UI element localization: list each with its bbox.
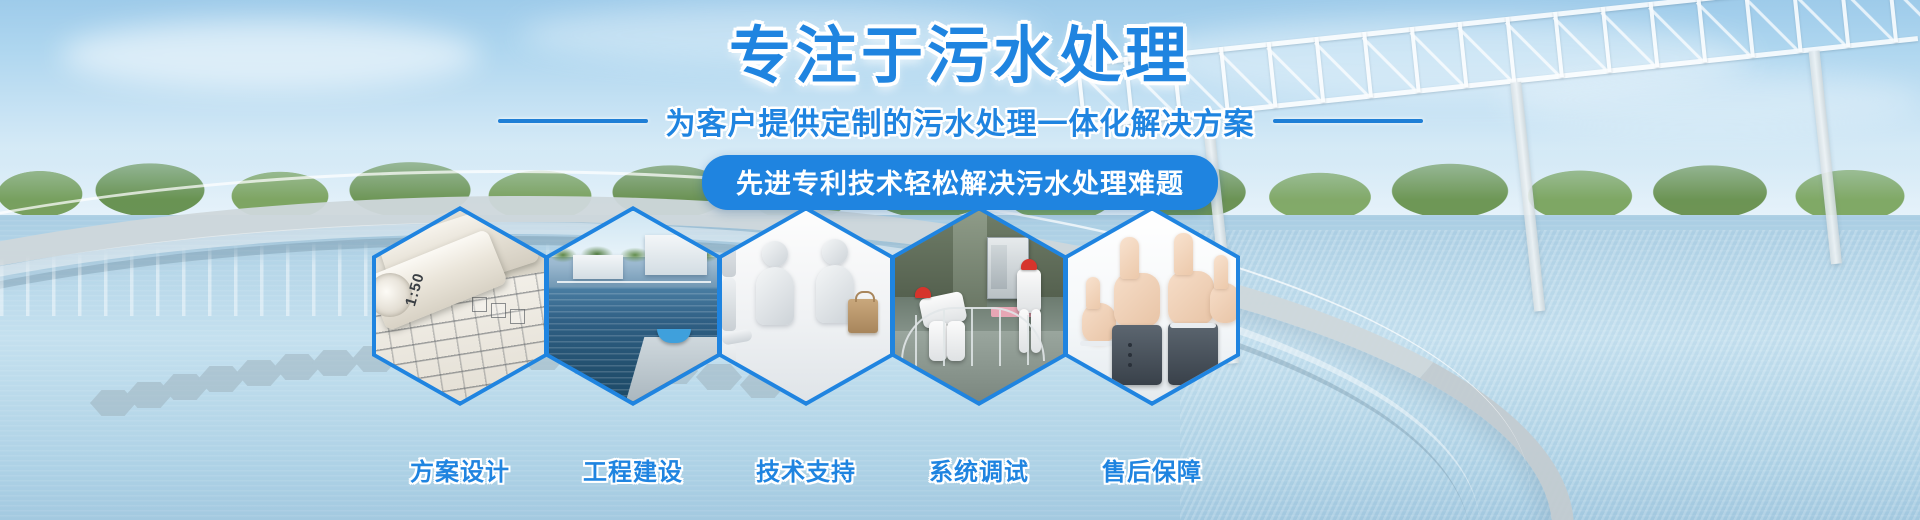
railing-post — [971, 308, 973, 366]
hexagon-frame — [891, 206, 1067, 406]
headline-block: 专注于污水处理 为客户提供定制的污水处理一体化解决方案 先进专利技术轻松解决污水… — [0, 0, 1920, 210]
feature-item-commissioning[interactable]: 系统调试 — [891, 206, 1067, 487]
shirt-cuff — [1170, 323, 1216, 328]
decorative-line-right — [1273, 119, 1423, 123]
blueprint-box — [472, 297, 487, 312]
commissioning-workers-icon — [895, 211, 1063, 402]
blueprint-box — [510, 309, 525, 324]
thumb-fist — [1082, 303, 1116, 343]
thumb-fist — [1210, 283, 1236, 323]
railing-post — [915, 315, 917, 367]
hexagon-image-clip — [895, 211, 1063, 402]
hexagon-image-clip — [1068, 211, 1236, 402]
hero-banner: 专注于污水处理 为客户提供定制的污水处理一体化解决方案 先进专利技术轻松解决污水… — [0, 0, 1920, 520]
figure-head-left — [762, 241, 788, 267]
figure-leg-left — [722, 223, 736, 277]
railing-post — [1027, 315, 1029, 365]
subtitle-row: 为客户提供定制的污水处理一体化解决方案 — [0, 99, 1920, 143]
thumb-up-finger — [1120, 237, 1139, 279]
subtitle: 为客户提供定制的污水处理一体化解决方案 — [666, 99, 1255, 143]
hexagon-frame — [1064, 206, 1240, 406]
thumb-fist — [1114, 273, 1160, 327]
hexagon-frame: 1:50 — [372, 206, 548, 406]
blueprint-box — [491, 303, 506, 318]
thumb-up-finger — [1214, 255, 1228, 289]
figure-leg-right — [722, 399, 736, 402]
tagline-badge: 先进专利技术轻松解决污水处理难题 — [702, 155, 1218, 210]
feature-label-commissioning: 系统调试 — [891, 452, 1067, 487]
hexagon-image-clip: 1:50 — [376, 211, 544, 402]
suit-sleeve — [1168, 323, 1218, 385]
sleeve-button — [1128, 353, 1132, 357]
figure-arm-left — [722, 211, 753, 226]
plant-building — [645, 235, 707, 275]
figure-arm-right — [722, 328, 753, 345]
feature-item-tech-support[interactable]: 技术支持 — [718, 206, 894, 487]
plant-railing — [557, 281, 711, 283]
feature-item-after-sales[interactable]: 售后保障 — [1064, 206, 1240, 487]
sleeve-button — [1128, 363, 1132, 367]
control-panel-door — [991, 245, 1007, 289]
hexagon-image-clip — [549, 211, 717, 402]
decorative-line-left — [498, 119, 648, 123]
feature-label-engineering: 工程建设 — [545, 452, 721, 487]
thumbs-up-icon — [1068, 211, 1236, 402]
figure-leg-right — [722, 343, 736, 399]
figure-head-right — [822, 239, 848, 265]
briefcase-handle — [855, 291, 875, 302]
figure-leg-left — [722, 277, 736, 331]
feature-label-plan-design: 方案设计 — [372, 452, 548, 487]
railing-post — [943, 310, 945, 366]
feature-item-plan-design[interactable]: 1:50 方案设计 — [372, 206, 548, 487]
suit-sleeve — [1112, 325, 1162, 385]
briefcase-icon — [848, 299, 878, 333]
feature-hexagon-row: 1:50 方案设计 — [0, 206, 1920, 506]
main-title: 专注于污水处理 — [0, 0, 1920, 89]
sleeve-button — [1128, 343, 1132, 347]
thumb-fist — [1168, 271, 1214, 325]
thumb-up-finger — [1086, 277, 1100, 309]
hexagon-image-clip — [722, 211, 890, 402]
figure-body-left — [756, 267, 794, 325]
thumb-up-finger — [1174, 233, 1193, 275]
plant-building — [573, 255, 623, 279]
feature-item-engineering[interactable]: 工程建设 — [545, 206, 721, 487]
railing-post — [999, 310, 1001, 366]
hexagon-frame — [718, 206, 894, 406]
feature-label-after-sales: 售后保障 — [1064, 452, 1240, 487]
hexagon-frame — [545, 206, 721, 406]
blueprint-roll-icon: 1:50 — [376, 211, 544, 402]
worker-body-right — [1017, 269, 1041, 313]
treatment-basin-icon — [549, 211, 717, 402]
pill-row: 先进专利技术轻松解决污水处理难题 — [0, 155, 1920, 210]
feature-label-tech-support: 技术支持 — [718, 452, 894, 487]
handshake-figures-icon — [722, 211, 890, 402]
